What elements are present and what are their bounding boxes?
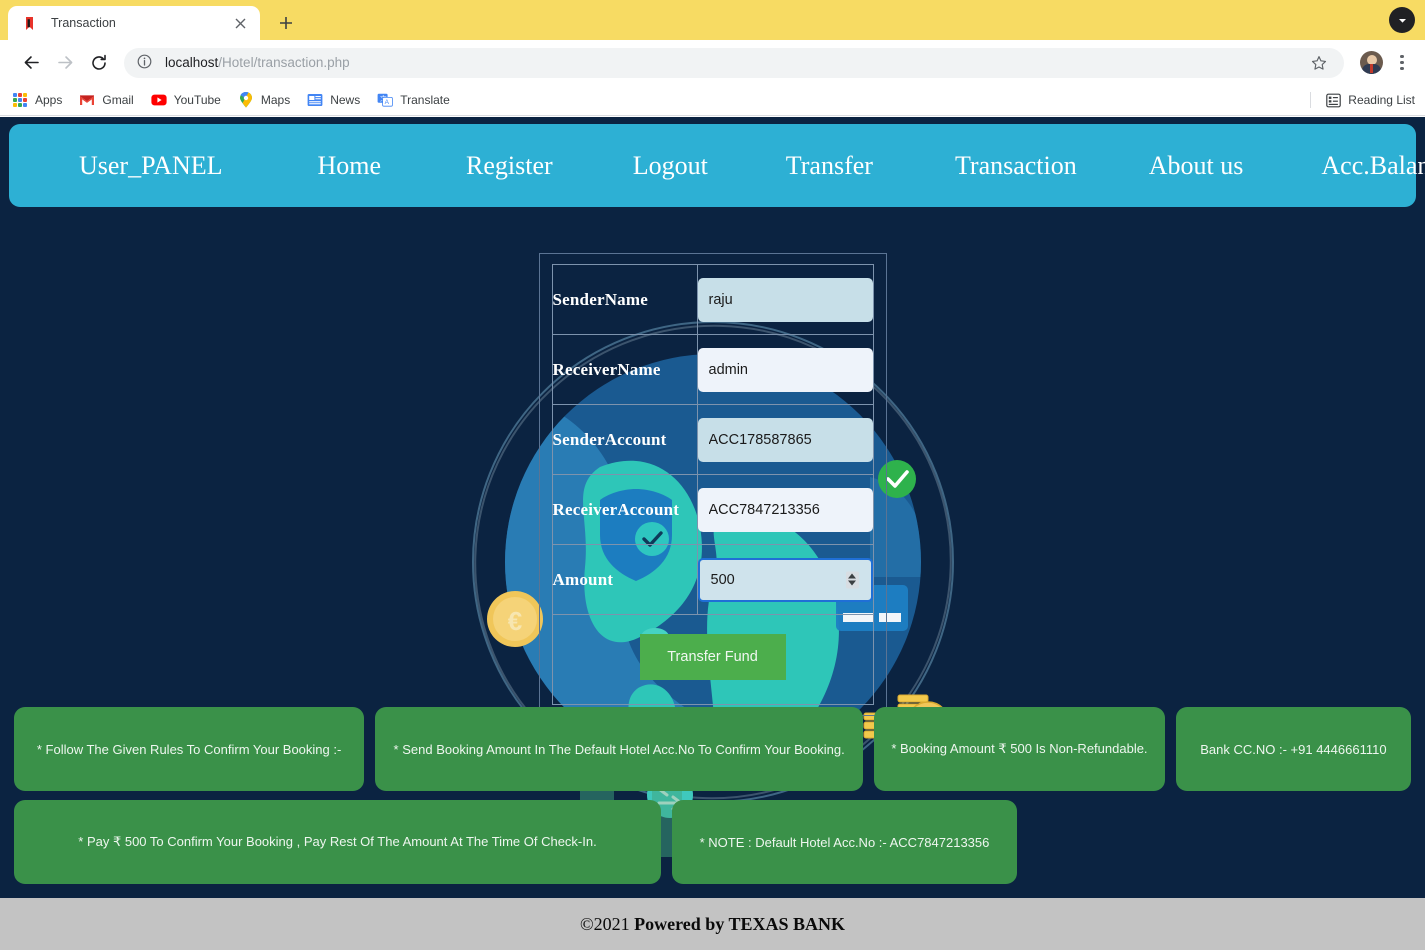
page-footer: ©2021 Powered by TEXAS BANK [0, 898, 1425, 950]
form-row-amount: Amount [552, 545, 873, 615]
svg-text:A: A [385, 99, 390, 106]
new-tab-button[interactable] [272, 9, 300, 37]
apps-grid-icon [12, 92, 28, 108]
form-row-receiver-account: ReceiverAccount [552, 475, 873, 545]
avatar[interactable] [1360, 51, 1383, 74]
close-icon[interactable] [230, 13, 250, 33]
notice-send-amount: * Send Booking Amount In The Default Hot… [375, 707, 863, 791]
notice-row-2: * Pay ₹ 500 To Confirm Your Booking , Pa… [0, 800, 1425, 884]
site-navbar: User_PANEL Home Register Logout Transfer… [9, 124, 1416, 207]
form-row-sender-name: SenderName [552, 265, 873, 335]
label-amount: Amount [552, 545, 697, 615]
youtube-icon [151, 92, 167, 108]
nav-item-home[interactable]: Home [317, 147, 381, 185]
nav-item-about-us[interactable]: About us [1149, 147, 1244, 185]
back-arrow-icon[interactable] [16, 48, 46, 78]
bookmark-label: YouTube [174, 93, 221, 107]
submit-row: Transfer Fund [552, 615, 874, 705]
browser-tab[interactable]: Transaction [8, 6, 260, 40]
transfer-fund-button[interactable]: Transfer Fund [640, 634, 786, 680]
reading-list-button[interactable]: Reading List [1325, 92, 1415, 108]
forward-arrow-icon[interactable] [50, 48, 80, 78]
footer-copyright: ©2021 [580, 914, 634, 934]
maps-pin-icon [238, 92, 254, 108]
url-host: localhost [165, 55, 218, 70]
notice-row-1: * Follow The Given Rules To Confirm Your… [0, 707, 1425, 791]
label-receiver-account: ReceiverAccount [552, 475, 697, 545]
notice-non-refundable: * Booking Amount ₹ 500 Is Non-Refundable… [874, 707, 1165, 791]
bookmark-maps[interactable]: Maps [238, 92, 290, 108]
info-circle-icon [137, 54, 154, 71]
label-receiver-name: ReceiverName [552, 335, 697, 405]
footer-powered-by: Powered by TEXAS BANK [634, 914, 845, 934]
bookmark-label: Translate [400, 93, 450, 107]
address-bar[interactable]: localhost/Hotel/transaction.php [124, 48, 1344, 78]
chevron-down-icon[interactable] [1389, 7, 1415, 33]
notice-rules: * Follow The Given Rules To Confirm Your… [14, 707, 364, 791]
sender-name-input[interactable] [698, 278, 873, 322]
notice-default-acc: * NOTE : Default Hotel Acc.No :- ACC7847… [672, 800, 1017, 884]
form-row-receiver-name: ReceiverName [552, 335, 873, 405]
bookmark-favicon [22, 15, 39, 32]
nav-item-register[interactable]: Register [466, 147, 553, 185]
tab-strip: Transaction [0, 0, 1425, 40]
reload-icon[interactable] [84, 48, 114, 78]
transfer-form-container: SenderName ReceiverName SenderAccount [0, 253, 1425, 716]
notice-bank-cc-no: Bank CC.NO :- +91 4446661110 [1176, 707, 1411, 791]
sender-account-input[interactable] [698, 418, 873, 462]
bookmark-youtube[interactable]: YouTube [151, 92, 221, 108]
address-bar-url: localhost/Hotel/transaction.php [165, 55, 350, 70]
bookmark-news[interactable]: News [307, 92, 360, 108]
nav-item-acc-balance[interactable]: Acc.Balance [1321, 147, 1425, 185]
nav-item-transfer[interactable]: Transfer [786, 147, 873, 185]
bookmark-label: News [330, 93, 360, 107]
star-icon[interactable] [1306, 50, 1332, 76]
footer-text: ©2021 Powered by TEXAS BANK [580, 914, 845, 935]
google-translate-icon: 文 A [377, 92, 393, 108]
bookmarks-bar: Apps Gmail YouTube [0, 85, 1425, 116]
nav-item-transaction[interactable]: Transaction [955, 147, 1077, 185]
notice-pay-confirm: * Pay ₹ 500 To Confirm Your Booking , Pa… [14, 800, 661, 884]
divider [1310, 92, 1311, 108]
three-dot-menu-icon[interactable] [1389, 48, 1415, 78]
quantity-stepper[interactable] [846, 571, 859, 588]
bookmark-label: Gmail [102, 93, 133, 107]
bookmark-gmail[interactable]: Gmail [79, 92, 133, 108]
browser-window: Transaction [0, 0, 1425, 950]
bookmark-label: Maps [261, 93, 290, 107]
bookmark-apps[interactable]: Apps [12, 92, 62, 108]
receiver-account-input[interactable] [698, 488, 873, 532]
receiver-name-input[interactable] [698, 348, 873, 392]
google-news-icon [307, 92, 323, 108]
nav-item-logout[interactable]: Logout [633, 147, 708, 185]
gmail-icon [79, 92, 95, 108]
form-row-sender-account: SenderAccount [552, 405, 873, 475]
reading-list-icon [1325, 92, 1341, 108]
nav-item-user-panel[interactable]: User_PANEL [79, 147, 222, 185]
browser-toolbar: localhost/Hotel/transaction.php [0, 40, 1425, 85]
transfer-form-table: SenderName ReceiverName SenderAccount [552, 264, 874, 615]
url-path: /Hotel/transaction.php [218, 55, 349, 70]
tab-title: Transaction [51, 16, 230, 30]
bookmark-translate[interactable]: 文 A Translate [377, 92, 450, 108]
label-sender-account: SenderAccount [552, 405, 697, 475]
notices-section: * Follow The Given Rules To Confirm Your… [0, 707, 1425, 893]
bookmark-label: Apps [35, 93, 62, 107]
transfer-form: SenderName ReceiverName SenderAccount [539, 253, 887, 716]
label-sender-name: SenderName [552, 265, 697, 335]
page-content: User_PANEL Home Register Logout Transfer… [0, 117, 1425, 950]
reading-list-label: Reading List [1348, 93, 1415, 107]
